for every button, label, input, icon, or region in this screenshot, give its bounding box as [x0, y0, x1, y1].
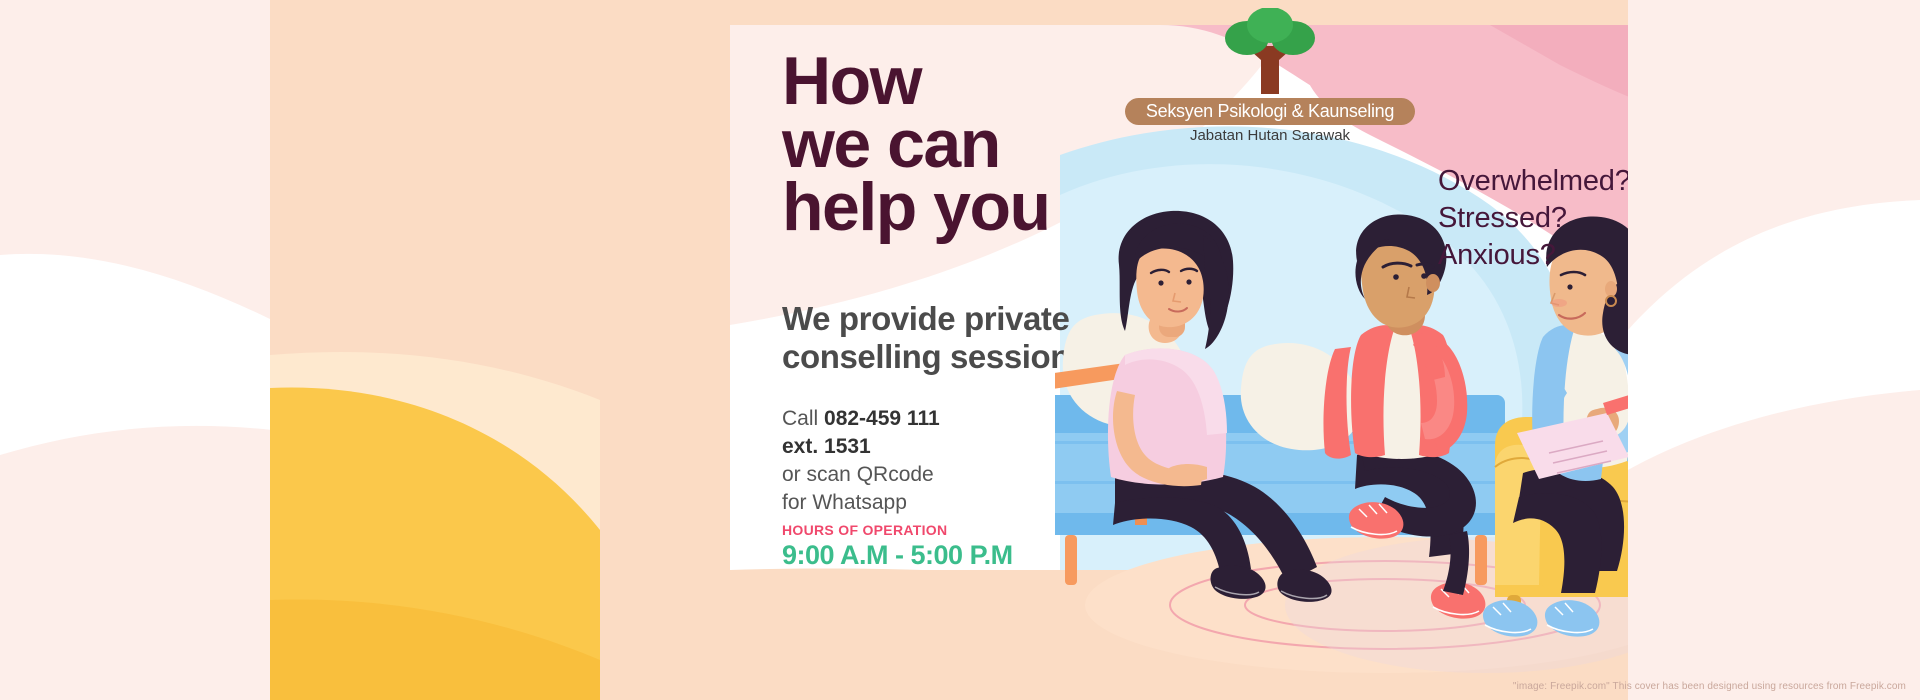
extension-number: ext. 1531	[782, 435, 871, 458]
logo-subtitle: Jabatan Hutan Sarawak	[1125, 127, 1415, 144]
image-credit: "image: Freepik.com" This cover has been…	[1513, 681, 1906, 692]
phone-number[interactable]: 082-459 111	[824, 407, 940, 430]
questions-text: Overwhelmed? Stressed? Anxious?	[1438, 163, 1628, 274]
hours-label: HOURS OF OPERATION	[782, 522, 947, 538]
counselling-illustration	[1055, 205, 1628, 675]
poster-panel: How we can help you We provide private c…	[270, 0, 1628, 700]
poster-canvas: How we can help you We provide private c…	[0, 0, 1920, 700]
call-label: Call	[782, 407, 824, 430]
organization-logo: Seksyen Psikologi & Kaunseling Jabatan H…	[1125, 8, 1415, 143]
logo-badge: Seksyen Psikologi & Kaunseling	[1125, 98, 1415, 125]
tree-icon	[1125, 8, 1415, 98]
illustration-svg	[1055, 205, 1628, 675]
hours-value: 9:00 A.M - 5:00 P.M	[782, 540, 1013, 571]
